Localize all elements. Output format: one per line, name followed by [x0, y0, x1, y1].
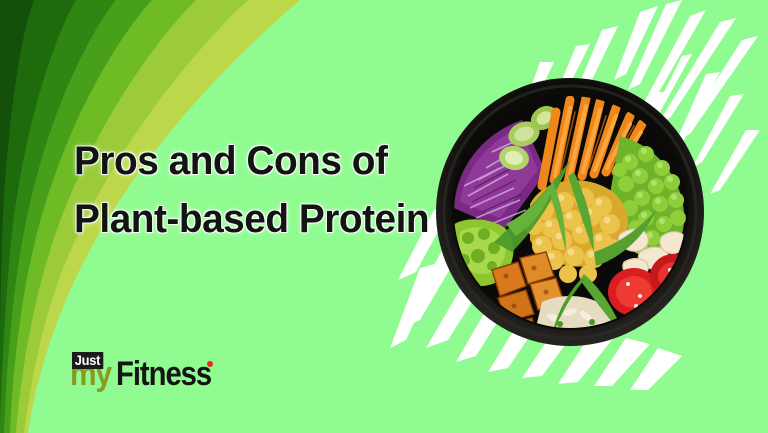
article-header-banner: Pros and Cons of Plant-based Protein myF… [0, 0, 768, 433]
plant-based-bowl-photo [434, 76, 706, 348]
logo-red-dot-icon [207, 361, 213, 367]
site-logo[interactable]: myFitness Just [70, 352, 270, 398]
title-line-2: Plant-based Protein [74, 190, 462, 248]
splash-stroke-10 [710, 130, 760, 194]
title-line-1: Pros and Cons of [74, 132, 462, 190]
page-title: Pros and Cons of Plant-based Protein [74, 132, 474, 248]
logo-word-fitness: Fitness [116, 357, 211, 391]
logo-badge-just: Just [72, 352, 103, 369]
